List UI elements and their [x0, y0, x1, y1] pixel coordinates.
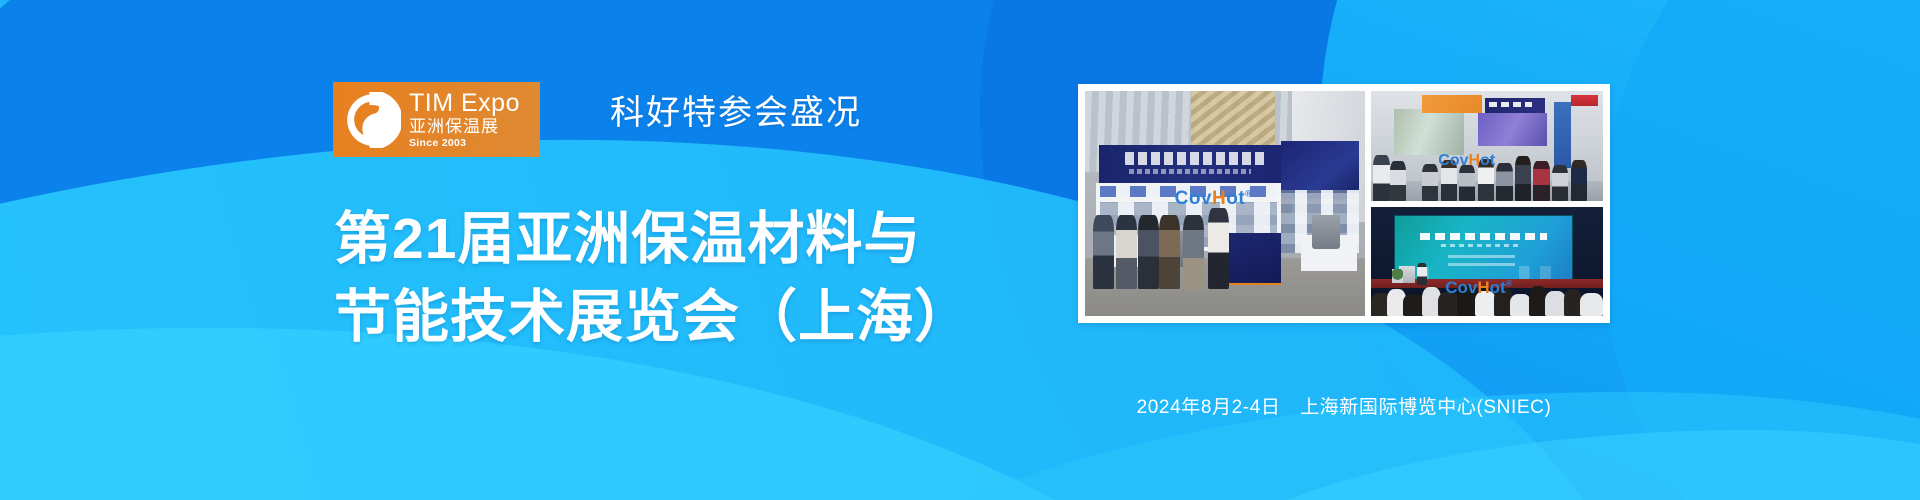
watermark-h: H	[1212, 188, 1226, 209]
title-line-1: 第21届亚洲保温材料与	[334, 200, 972, 278]
photo-exhibition-hall: CovHot	[1371, 91, 1603, 201]
booth-banner-company-latin	[1129, 169, 1251, 174]
watermark-ot: ot	[1226, 188, 1245, 209]
yin-yang-swirl-icon	[345, 92, 401, 148]
page-title: 第21届亚洲保温材料与 节能技术展览会（上海）	[334, 200, 972, 356]
booth-product-display-b	[1312, 215, 1340, 249]
expo-promo-banner: TIM Expo 亚洲保温展 Since 2003 科好特参会盛况 第21届亚洲…	[0, 0, 1920, 500]
photo-exhibition-booth: CovHot®	[1085, 91, 1365, 316]
logo-title: TIM Expo	[409, 91, 520, 116]
forum-screen-subtitle	[1441, 244, 1522, 248]
hall-sign-orange	[1422, 95, 1482, 113]
watermark-cov: Cov	[1438, 152, 1468, 169]
covhot-watermark: CovHot®	[1445, 278, 1512, 298]
event-info-text: 2024年8月2-4日 上海新国际博览中心(SNIEC)	[1078, 392, 1610, 419]
logo-subtitle: 亚洲保温展	[409, 118, 520, 135]
hall-sign-dely	[1485, 98, 1545, 113]
kicker-text: 科好特参会盛况	[610, 85, 862, 134]
booth-header-banner	[1099, 145, 1284, 186]
photo-forum-stage: CovHot®	[1371, 207, 1603, 317]
booth-visitor	[1159, 215, 1180, 289]
booth-visitor	[1116, 215, 1137, 289]
tim-expo-logo: TIM Expo 亚洲保温展 Since 2003	[333, 82, 540, 157]
forum-screen-body	[1448, 252, 1515, 266]
watermark-cov: Cov	[1175, 188, 1212, 209]
watermark-cov: Cov	[1445, 278, 1477, 297]
watermark-ot: ot	[1480, 152, 1495, 169]
booth-visitor	[1138, 215, 1159, 289]
booth-banner-company-name	[1125, 152, 1265, 165]
covhot-watermark: CovHot	[1438, 152, 1495, 170]
booth-visitor	[1208, 208, 1229, 289]
watermark-registered: ®	[1245, 188, 1252, 198]
logo-since-text: Since 2003	[409, 138, 520, 149]
booth-visitor	[1093, 215, 1114, 289]
watermark-ot: ot	[1490, 278, 1506, 297]
booth-visitor	[1183, 215, 1204, 289]
hall-sign-red	[1571, 95, 1599, 106]
photo-collage: CovHot®	[1078, 84, 1610, 323]
watermark-h: H	[1477, 278, 1489, 297]
watermark-h: H	[1469, 152, 1481, 169]
forum-screen-title	[1420, 233, 1547, 240]
title-line-2: 节能技术展览会（上海）	[334, 278, 972, 356]
watermark-registered: ®	[1506, 279, 1513, 289]
covhot-watermark: CovHot®	[1175, 188, 1253, 210]
collage-right-column: CovHot	[1371, 91, 1603, 316]
